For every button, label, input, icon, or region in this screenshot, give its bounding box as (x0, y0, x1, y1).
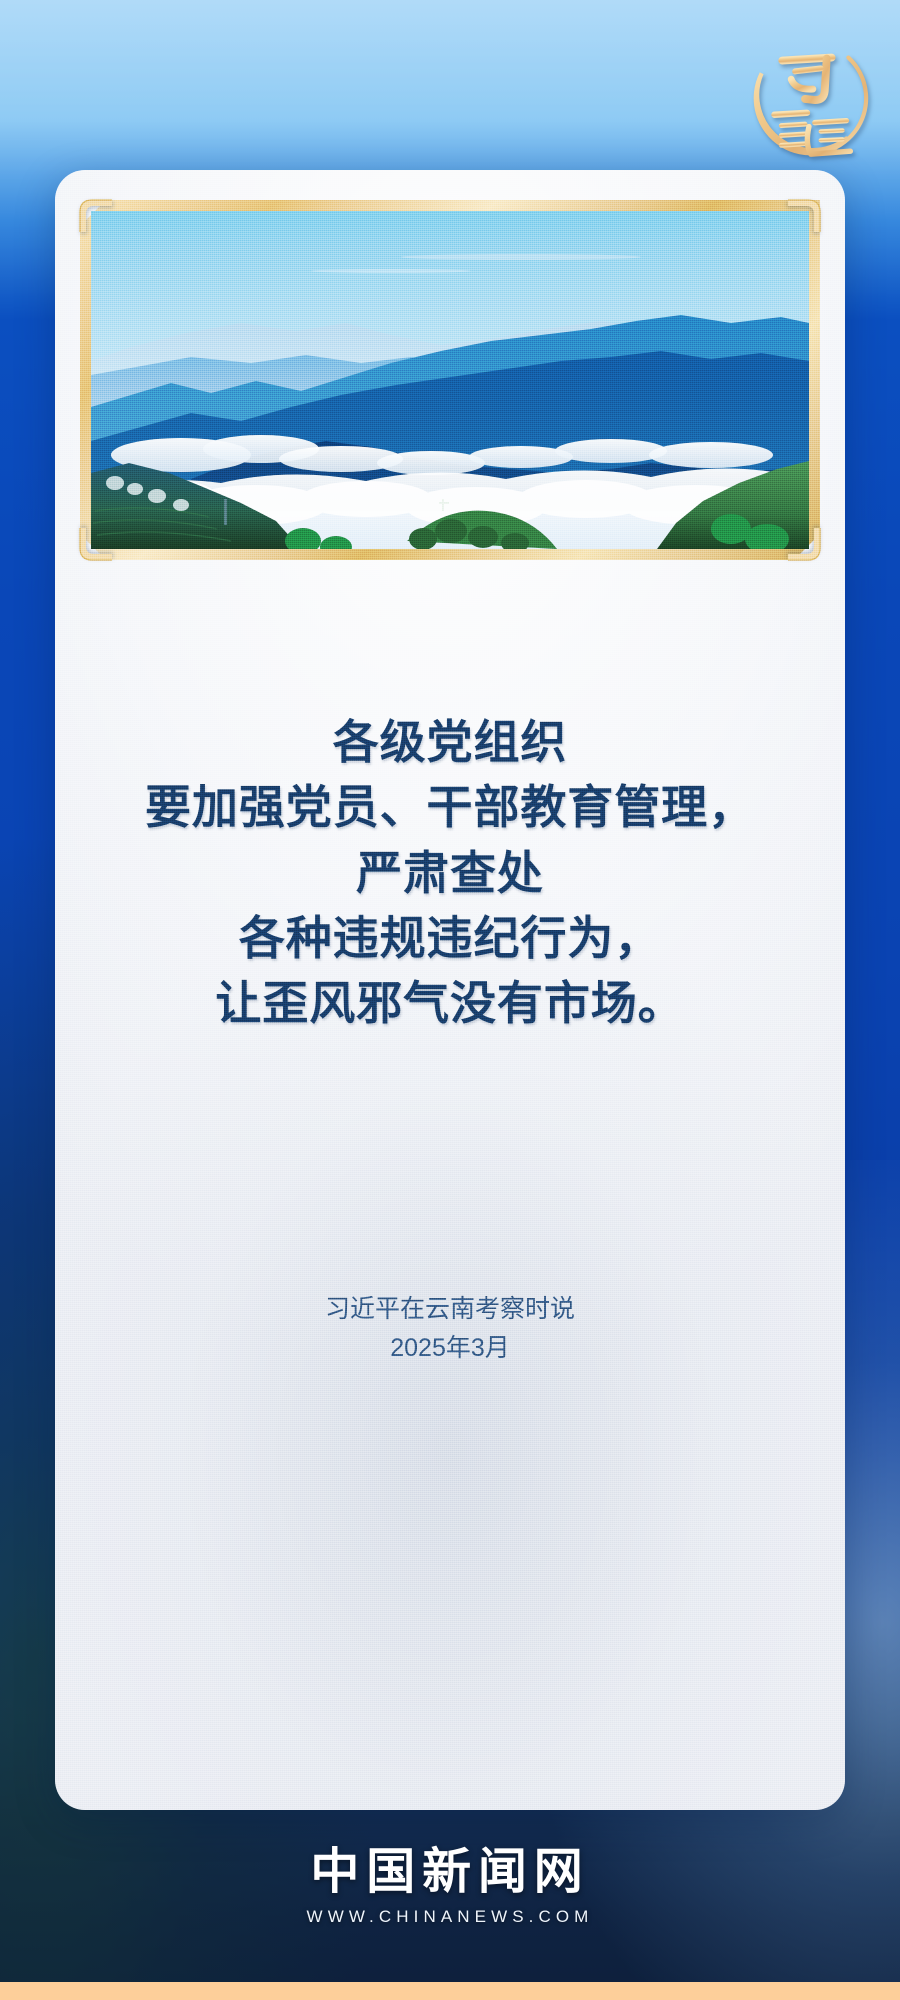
landscape-photo (91, 211, 809, 549)
attribution: 习近平在云南考察时说 2025年3月 (55, 1290, 845, 1368)
quote-text: 各级党组织 要加强党员、干部教育管理， 严肃查处 各种违规违纪行为， 让歪风邪气… (55, 710, 845, 1037)
quote-line: 严肃查处 (55, 841, 845, 906)
quote-line: 各种违规违纪行为， (55, 906, 845, 971)
poster-root: 各级党组织 要加强党员、干部教育管理， 严肃查处 各种违规违纪行为， 让歪风邪气… (0, 0, 900, 2000)
site-url-text: WWW.CHINANEWS.COM (0, 1907, 900, 1927)
content-card: 各级党组织 要加强党员、干部教育管理， 严肃查处 各种违规违纪行为， 让歪风邪气… (55, 170, 845, 1810)
brand-emblem-seal-icon[interactable] (736, 28, 874, 166)
quote-line: 让歪风邪气没有市场。 (55, 971, 845, 1036)
footer-logo[interactable]: 中国新闻网 WWW.CHINANEWS.COM (0, 1845, 900, 1927)
photo-frame[interactable] (80, 200, 820, 560)
quote-line: 要加强党员、干部教育管理， (55, 775, 845, 840)
site-name: 中国新闻网 (0, 1845, 900, 1899)
bottom-accent-strip (0, 1982, 900, 2000)
quote-line: 各级党组织 (55, 710, 845, 775)
attribution-source: 习近平在云南考察时说 (55, 1290, 845, 1329)
attribution-date: 2025年3月 (55, 1329, 845, 1368)
